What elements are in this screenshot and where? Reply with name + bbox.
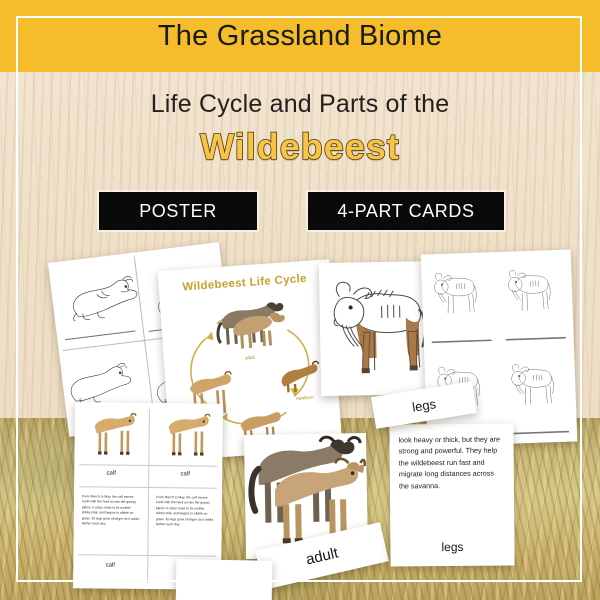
legs-paragraph: look heavy or thick, but they are strong… — [398, 434, 504, 492]
calf-paragraph-left: From March to May, the calf moves north … — [82, 494, 140, 527]
calf-paragraph-right: From March to May, the calf moves north … — [156, 495, 214, 528]
adult-wildebeest-art — [210, 298, 289, 355]
calf-label-bottom-left: calf — [73, 562, 147, 569]
legs-description-card[interactable]: look heavy or thick, but they are strong… — [389, 423, 514, 566]
legs-word-label: legs — [390, 539, 514, 554]
newborn-wildebeest-art — [276, 358, 322, 395]
subtitle: Life Cycle and Parts of the — [0, 90, 600, 119]
card-divider-vertical — [147, 409, 150, 583]
calf-label-top-left: calf — [74, 470, 148, 477]
calf-art-right — [162, 413, 210, 460]
animal-title: Wildebeest — [0, 126, 600, 168]
badge-poster[interactable]: POSTER — [99, 192, 257, 230]
partial-card-peek — [176, 559, 273, 600]
band-title: The Grassland Biome — [0, 0, 600, 72]
product-cover: The Grassland Biome Life Cycle and Parts… — [0, 0, 600, 600]
badge-four-part-cards[interactable]: 4-PART CARDS — [308, 192, 504, 230]
calf-label-top-right: calf — [148, 471, 222, 478]
calf-art-left — [88, 412, 136, 459]
